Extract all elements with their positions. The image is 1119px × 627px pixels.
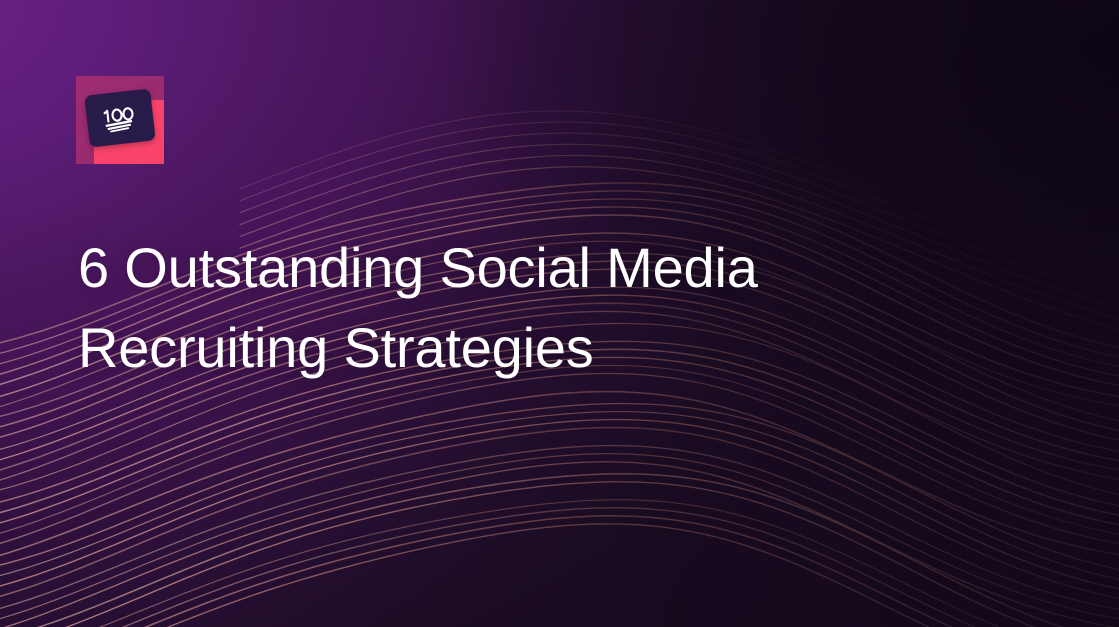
wave-line bbox=[0, 392, 1119, 561]
wave-line bbox=[0, 508, 1119, 627]
card-title-line-1: 6 Outstanding Social Media bbox=[78, 228, 908, 308]
wave-line bbox=[0, 500, 1119, 627]
card-title-line-2: Recruiting Strategies bbox=[78, 308, 908, 388]
hero-card: 6 Outstanding Social Media Recruiting St… bbox=[0, 0, 1119, 627]
wave-line bbox=[0, 516, 1119, 627]
hundred-points-emoji-icon bbox=[84, 88, 155, 147]
wave-line bbox=[0, 428, 1119, 602]
wave-line bbox=[0, 446, 1119, 614]
wave-line bbox=[0, 454, 1119, 625]
wave-line bbox=[0, 404, 1119, 573]
brand-logo[interactable] bbox=[76, 76, 164, 164]
wave-line bbox=[0, 474, 1119, 627]
wave-line bbox=[0, 365, 1119, 538]
wave-line bbox=[0, 482, 1119, 627]
wave-line bbox=[0, 374, 1119, 550]
card-title: 6 Outstanding Social Media Recruiting St… bbox=[78, 228, 908, 387]
wave-line bbox=[0, 524, 1119, 627]
wave-line bbox=[0, 420, 1119, 592]
wave-line bbox=[0, 462, 1119, 627]
wave-line bbox=[0, 412, 1119, 582]
